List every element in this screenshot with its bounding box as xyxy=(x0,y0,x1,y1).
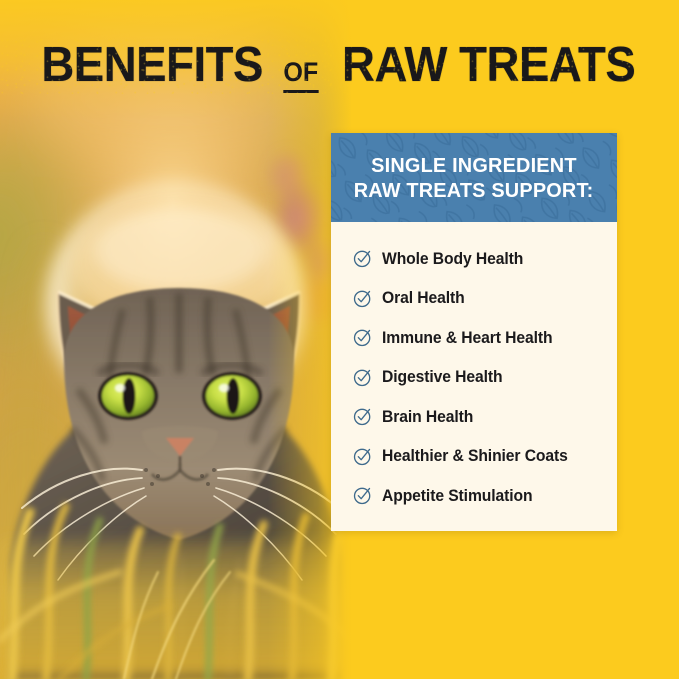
check-circle-icon xyxy=(353,447,372,466)
list-item-label: Whole Body Health xyxy=(382,251,523,268)
check-circle-icon xyxy=(353,328,372,347)
page-title-text: BENEFITS OF RAW TREATS xyxy=(33,41,646,90)
page-title: BENEFITS OF RAW TREATS xyxy=(0,36,679,94)
list-item-label: Oral Health xyxy=(382,290,465,307)
check-circle-icon xyxy=(353,486,372,505)
benefits-card: SINGLE INGREDIENT RAW TREATS SUPPORT: Wh… xyxy=(331,133,617,531)
benefits-card-header-line2: RAW TREATS SUPPORT: xyxy=(354,178,594,203)
list-item-label: Digestive Health xyxy=(382,369,502,386)
check-circle-icon xyxy=(353,407,372,426)
infographic-canvas: BENEFITS OF RAW TREATS xyxy=(0,0,679,679)
check-circle-icon xyxy=(353,289,372,308)
list-item-label: Appetite Stimulation xyxy=(382,488,533,505)
check-circle-icon xyxy=(353,249,372,268)
list-item-label: Healthier & Shinier Coats xyxy=(382,448,568,465)
list-item: Digestive Health xyxy=(353,358,617,398)
list-item: Whole Body Health xyxy=(353,239,617,279)
cat-photo-illustration xyxy=(0,0,360,679)
list-item: Appetite Stimulation xyxy=(353,476,617,516)
page-title-part-benefits: BENEFITS xyxy=(41,41,263,90)
list-item-label: Immune & Heart Health xyxy=(382,330,552,347)
benefits-card-header-line1: SINGLE INGREDIENT xyxy=(371,153,576,178)
list-item: Immune & Heart Health xyxy=(353,318,617,358)
list-item-label: Brain Health xyxy=(382,409,473,426)
cat-photo xyxy=(0,0,360,679)
benefits-card-header: SINGLE INGREDIENT RAW TREATS SUPPORT: xyxy=(331,133,617,222)
check-circle-icon xyxy=(353,368,372,387)
benefits-list: Whole Body Health Oral Health Immune & H… xyxy=(331,222,617,531)
page-title-part-of: OF xyxy=(284,59,319,86)
list-item: Brain Health xyxy=(353,397,617,437)
page-title-part-raw-treats: RAW TREATS xyxy=(342,41,635,90)
list-item: Oral Health xyxy=(353,279,617,319)
list-item: Healthier & Shinier Coats xyxy=(353,437,617,477)
